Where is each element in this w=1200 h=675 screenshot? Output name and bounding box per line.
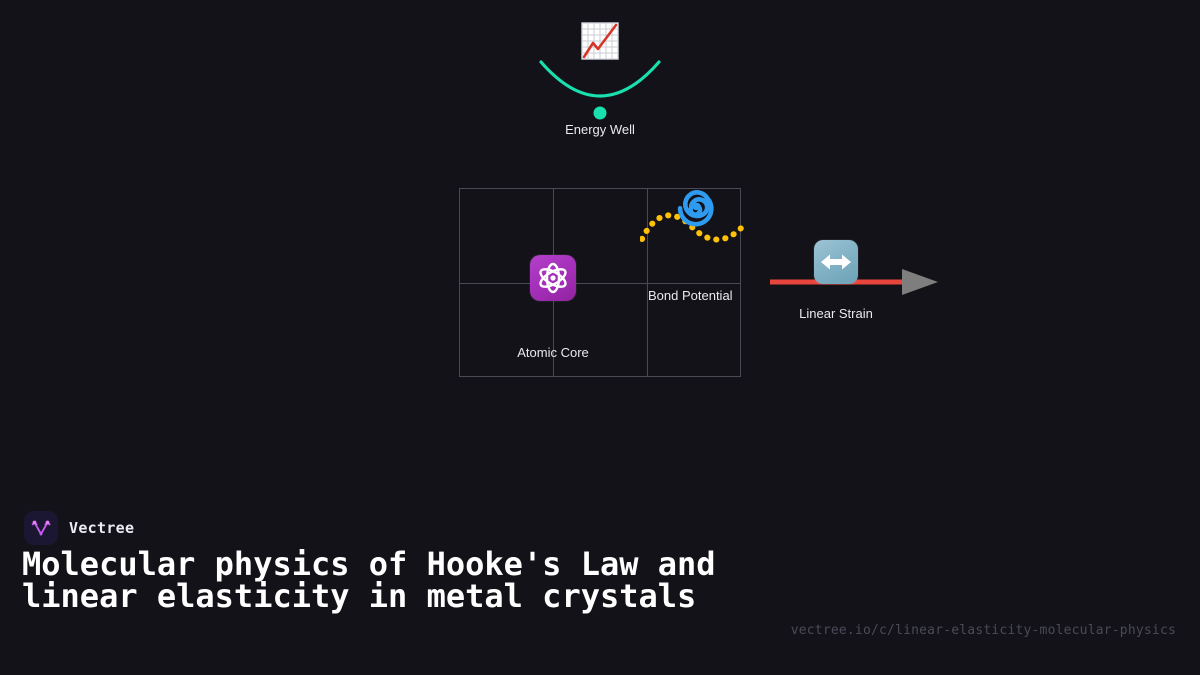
brand-name: Vectree (69, 519, 134, 537)
atomic-core-label: Atomic Core (498, 345, 608, 360)
page-title: Molecular physics of Hooke's Law and lin… (22, 548, 762, 612)
atom-icon (530, 255, 576, 301)
linear-strain-label: Linear Strain (762, 306, 910, 321)
energy-well-label: Energy Well (500, 122, 700, 137)
brand-row: Vectree (24, 511, 134, 545)
slide-canvas: Energy Well Bond Potential (0, 0, 1200, 675)
footer-url: vectree.io/c/linear-elasticity-molecular… (791, 623, 1176, 638)
energy-well-group[interactable]: Energy Well (500, 10, 700, 150)
left-right-arrow-icon (814, 240, 858, 284)
bond-potential-label: Bond Potential (648, 288, 733, 303)
bond-potential-group[interactable]: Bond Potential (640, 185, 755, 310)
energy-well-curve (500, 58, 700, 120)
atomic-core-group[interactable]: Atomic Core (498, 255, 608, 367)
linear-strain-group[interactable]: Linear Strain (762, 240, 948, 330)
vectree-v-logo-icon (24, 511, 58, 545)
cyclone-spiral-icon (673, 185, 719, 231)
